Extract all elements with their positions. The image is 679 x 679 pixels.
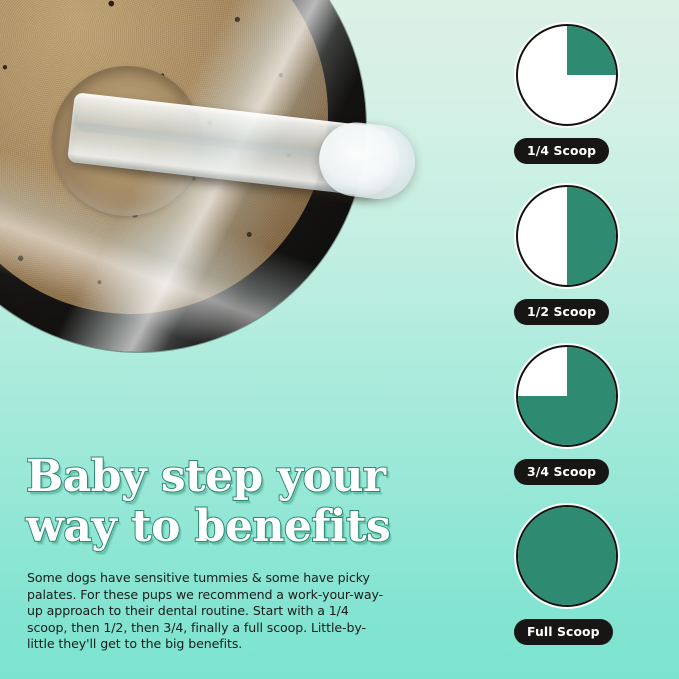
scoop-label-half: 1/2 Scoop (514, 299, 609, 325)
scoop-step-quarter: 1/4 Scoop (498, 24, 679, 164)
page-title: Baby step your way to benefits (26, 452, 426, 552)
scoop-label-quarter: 1/4 Scoop (514, 138, 609, 164)
scoop-label-full: Full Scoop (514, 619, 613, 645)
product-photo (0, 0, 374, 360)
scoop-step-three-quarter: 3/4 Scoop (498, 345, 679, 485)
poster-canvas: Baby step your way to benefits Some dogs… (0, 0, 679, 679)
pie-fill-three-quarter-top (567, 347, 616, 396)
pie-fill-quarter (567, 26, 616, 75)
pie-fill-half (567, 187, 616, 285)
pie-dial-full (516, 505, 618, 607)
scoop-label-three-quarter: 3/4 Scoop (514, 459, 609, 485)
pie-dial-three-quarter (516, 345, 618, 447)
pie-fill-full (518, 507, 616, 605)
pie-fill-three-quarter-bottom (518, 396, 616, 445)
body-paragraph: Some dogs have sensitive tummies & some … (27, 570, 387, 653)
scoop-dial-column: 1/4 Scoop 1/2 Scoop 3/4 Scoop Full Scoop (498, 0, 679, 679)
scoop-step-half: 1/2 Scoop (498, 185, 679, 325)
pie-dial-quarter (516, 24, 618, 126)
pie-dial-half (516, 185, 618, 287)
scoop-step-full: Full Scoop (498, 505, 679, 645)
